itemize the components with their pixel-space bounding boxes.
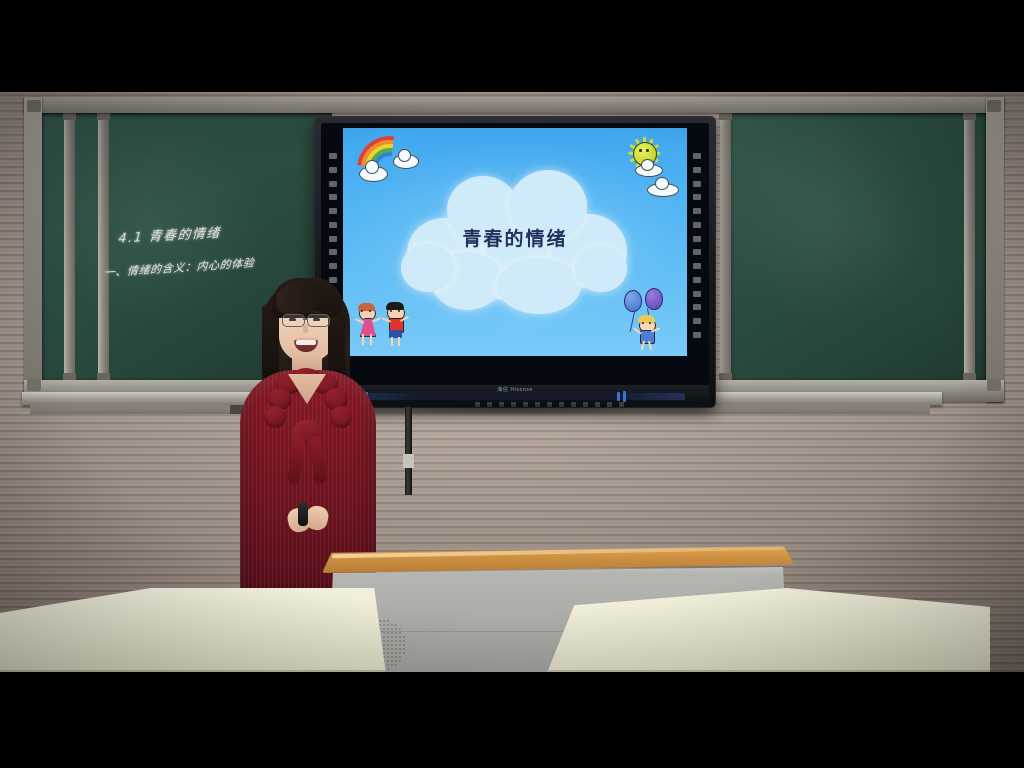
board-frame-right	[986, 97, 1004, 402]
bezel-button[interactable]	[693, 153, 701, 159]
slide-title: 青春的情绪	[401, 224, 629, 251]
bezel-button[interactable]	[693, 249, 701, 255]
eyeglass-bridge	[303, 318, 308, 320]
bezel-button[interactable]	[329, 181, 337, 187]
nose	[303, 325, 308, 333]
letterbox-bar-bottom	[0, 672, 1024, 768]
classroom-scene-frame: 4.1 青春的情绪 一、情绪的含义：内心的体验	[0, 0, 1024, 768]
frame-bracket	[27, 100, 41, 112]
bezel-button[interactable]	[329, 222, 337, 228]
board-slide-rail	[98, 113, 109, 380]
chalkboard-handwriting: 4.1 青春的情绪 一、情绪的含义：内心的体验	[118, 218, 320, 277]
bezel-button[interactable]	[329, 208, 337, 214]
letterbox-bar-top	[0, 0, 1024, 92]
frame-bracket	[27, 379, 41, 391]
collar-ruffle	[264, 406, 286, 428]
board-slide-rail	[64, 113, 75, 380]
display-control-bar[interactable]	[345, 393, 685, 400]
status-indicator-led	[623, 391, 626, 402]
bezel-button[interactable]	[693, 318, 701, 324]
bezel-button[interactable]	[693, 304, 701, 310]
bezel-button[interactable]	[693, 277, 701, 283]
remote-clicker[interactable]	[298, 502, 308, 526]
bezel-button[interactable]	[693, 291, 701, 297]
bezel-button[interactable]	[693, 208, 701, 214]
bezel-button[interactable]	[693, 181, 701, 187]
status-indicator-led	[617, 392, 620, 401]
bezel-button[interactable]	[693, 263, 701, 269]
bezel-button[interactable]	[329, 153, 337, 159]
cable-clip	[403, 454, 414, 468]
bezel-button[interactable]	[329, 263, 337, 269]
display-drop-shadow	[330, 405, 700, 433]
bezel-button[interactable]	[693, 167, 701, 173]
eyeglass-lens	[307, 314, 330, 327]
eyeglass-lens	[282, 314, 305, 327]
blackboard-panel-right	[730, 113, 986, 380]
bezel-button[interactable]	[329, 194, 337, 200]
bezel-button[interactable]	[693, 194, 701, 200]
board-frame-top	[24, 97, 1004, 113]
collar-ruffle	[330, 406, 352, 428]
classroom-scene: 4.1 青春的情绪 一、情绪的含义：内心的体验	[0, 92, 1024, 672]
small-cloud-icon	[641, 159, 654, 171]
board-frame-left	[24, 97, 42, 402]
bezel-button[interactable]	[329, 167, 337, 173]
frame-bracket	[987, 100, 1001, 112]
small-cloud-icon	[655, 177, 669, 190]
title-cloud-shape: 青春的情绪	[401, 166, 629, 318]
presentation-slide[interactable]: 青春的情绪	[343, 128, 687, 356]
bezel-button[interactable]	[329, 249, 337, 255]
bezel-button[interactable]	[693, 236, 701, 242]
bezel-button[interactable]	[693, 222, 701, 228]
display-mount-post	[405, 407, 412, 495]
bezel-button-strip-right[interactable]	[691, 153, 703, 338]
bezel-button[interactable]	[693, 332, 701, 338]
balloon-child-icon	[621, 288, 671, 350]
board-slide-rail	[720, 113, 731, 380]
board-slide-rail	[964, 113, 975, 380]
frame-bracket	[987, 379, 1001, 391]
bezel-button[interactable]	[329, 236, 337, 242]
